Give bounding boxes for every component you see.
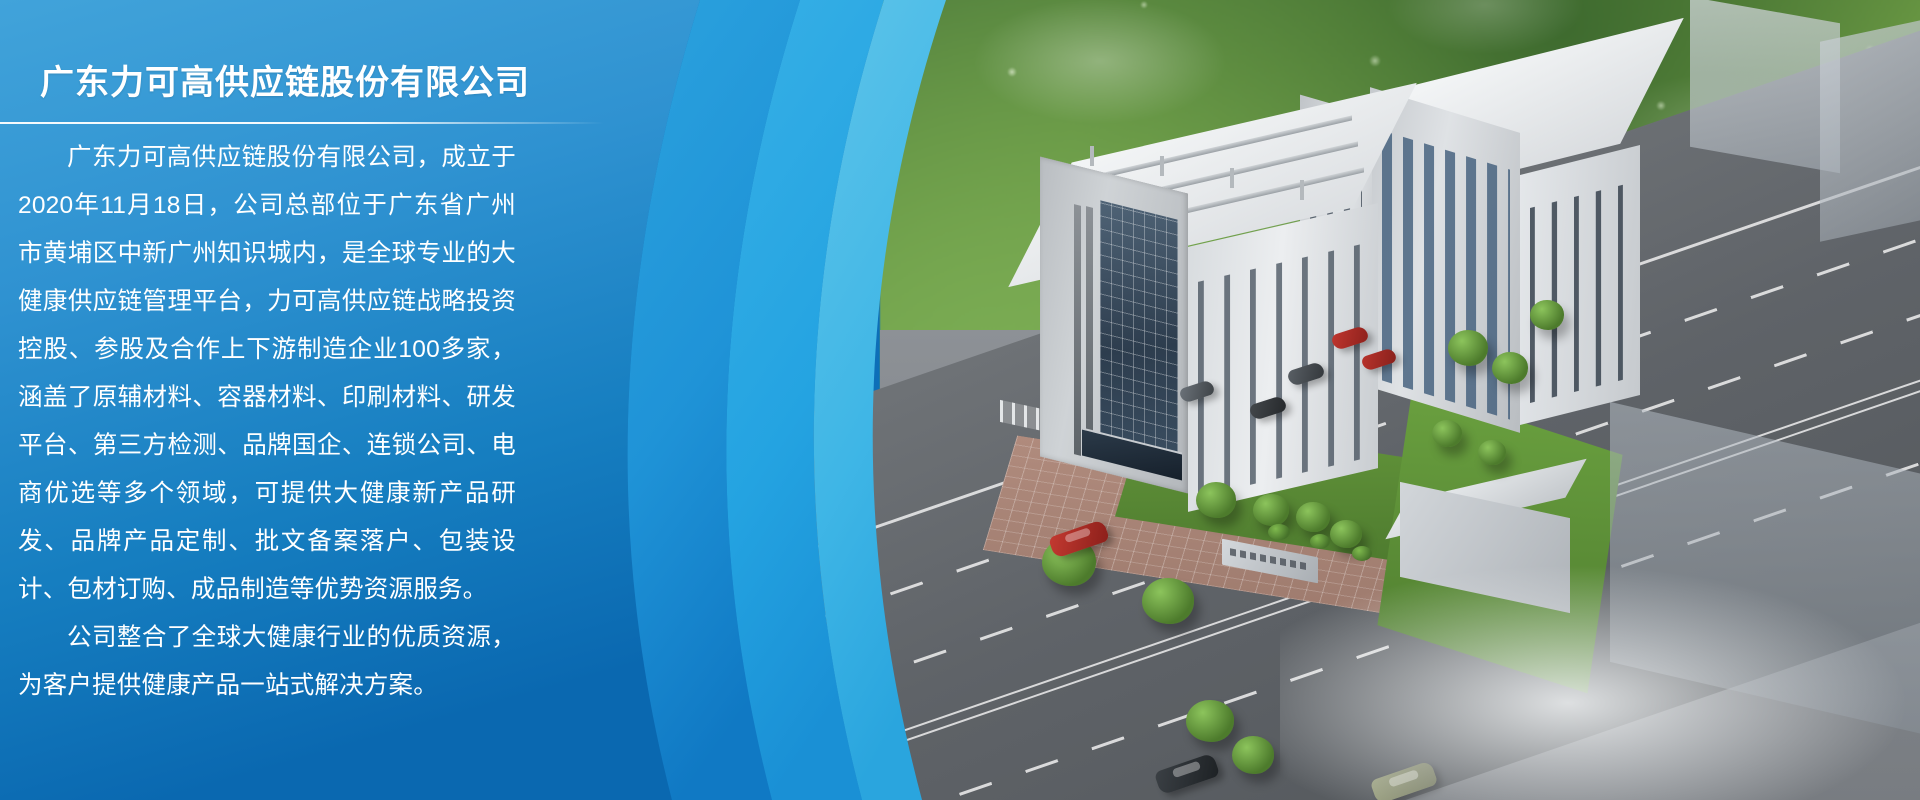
road-car-olive-windshield <box>1388 769 1419 787</box>
shrub <box>1310 534 1330 549</box>
tree <box>1186 700 1234 742</box>
main-building-side-windows <box>1198 242 1370 497</box>
tree <box>1330 520 1362 548</box>
tree <box>1142 578 1194 624</box>
shrub <box>1352 546 1372 561</box>
roof-truss-post-1 <box>1090 146 1094 166</box>
company-description: 广东力可高供应链股份有限公司，成立于2020年11月18日，公司总部位于广东省广… <box>18 134 516 710</box>
tree <box>1196 482 1236 518</box>
rear-building-windows <box>1382 130 1510 419</box>
facade-fin-left <box>1074 204 1081 456</box>
tree <box>1432 420 1462 447</box>
tree <box>1530 300 1564 330</box>
tree <box>1478 440 1506 465</box>
background-block-b <box>1820 18 1920 241</box>
shrub <box>1268 524 1290 540</box>
company-description-paragraph-1: 广东力可高供应链股份有限公司，成立于2020年11月18日，公司总部位于广东省广… <box>18 134 516 614</box>
page-title: 广东力可高供应链股份有限公司 <box>40 55 530 104</box>
tree <box>1448 330 1488 366</box>
text-panel: 广东力可高供应链股份有限公司 广东力可高供应链股份有限公司，成立于2020年11… <box>0 0 640 800</box>
roof-truss-post-4 <box>1300 180 1304 200</box>
roof-truss-post-2 <box>1160 156 1164 176</box>
tree <box>1296 502 1330 532</box>
tree <box>1232 736 1274 774</box>
main-building-curtain-wall <box>1100 200 1178 469</box>
background-block-a <box>1690 0 1840 173</box>
company-profile-banner: 广东力可高供应链股份有限公司 广东力可高供应链股份有限公司，成立于2020年11… <box>0 0 1920 800</box>
title-divider <box>0 122 604 124</box>
company-description-paragraph-2: 公司整合了全球大健康行业的优质资源，为客户提供健康产品一站式解决方案。 <box>18 614 516 710</box>
tree <box>1492 352 1528 384</box>
tree <box>1253 494 1289 526</box>
rear-building-side-windows <box>1530 182 1634 403</box>
roof-truss-post-3 <box>1230 168 1234 188</box>
facade-fin-right <box>1086 206 1093 458</box>
